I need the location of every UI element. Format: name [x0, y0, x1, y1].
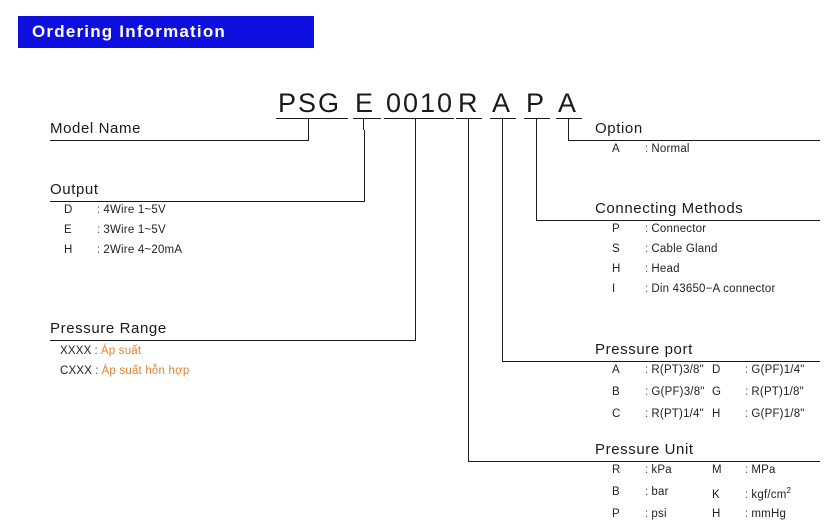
connecting-method-option-i: I:Din 43650−A connector	[612, 283, 776, 295]
option-separator: :	[745, 408, 748, 420]
model-code-pressure-port: A	[492, 88, 512, 119]
model-code-connecting-method: P	[526, 88, 546, 119]
option-separator: :	[94, 345, 97, 357]
connector-line	[456, 118, 482, 119]
pressure-unit-option-r: R:kPa	[612, 464, 672, 476]
connector-line	[536, 130, 537, 221]
option-value: G(PF)1/4"	[751, 364, 804, 376]
option-separator: :	[745, 364, 748, 376]
pressure-unit-option-k: K:kgf/cm2	[712, 486, 791, 501]
connector-line	[524, 118, 550, 119]
connector-line	[50, 201, 365, 202]
option-value: Cable Gland	[651, 243, 717, 255]
option-value: R(PT)3/8"	[651, 364, 704, 376]
option-separator: :	[95, 365, 98, 377]
section-title-pressure-port: Pressure port	[595, 341, 693, 358]
option-key: R	[612, 464, 642, 476]
connector-line	[364, 130, 365, 202]
pressure-port-option-b: B:G(PF)3/8"	[612, 386, 705, 398]
option-separator: :	[645, 464, 648, 476]
pressure-port-option-d: D:G(PF)1/4"	[712, 364, 805, 376]
option-value: bar	[651, 486, 668, 498]
option-key: D	[64, 204, 94, 216]
output-option-d: D:4Wire 1~5V	[64, 204, 166, 216]
option-value: mmHg	[751, 508, 786, 520]
option-separator: :	[745, 508, 748, 520]
connector-line	[536, 118, 537, 130]
ordering-information-diagram: Ordering Information PSGE0010RAPA Model …	[0, 0, 826, 528]
connector-line	[568, 140, 820, 141]
pressure-range-option-cxxx: CXXX:Áp suất hỗn hợp	[60, 365, 189, 377]
option-key: M	[712, 464, 742, 476]
option-value: R(PT)1/4"	[651, 408, 704, 420]
connector-line	[468, 130, 469, 462]
connector-line	[502, 361, 820, 362]
option-key: K	[712, 489, 742, 501]
model-code-pressure-unit: R	[458, 88, 480, 119]
option-separator: :	[745, 386, 748, 398]
option-separator: :	[645, 386, 648, 398]
connector-line	[50, 340, 416, 341]
option-separator: :	[645, 508, 648, 520]
connecting-method-option-p: P:Connector	[612, 223, 706, 235]
option-value: Head	[651, 263, 679, 275]
option-value: 4Wire 1~5V	[103, 204, 165, 216]
pressure-port-option-a: A:R(PT)3/8"	[612, 364, 704, 376]
option-key: B	[612, 386, 642, 398]
connector-line	[502, 130, 503, 362]
section-title-connecting-methods: Connecting Methods	[595, 200, 743, 217]
output-option-e: E:3Wire 1~5V	[64, 224, 166, 236]
option-key: H	[612, 263, 642, 275]
option-key: A	[612, 143, 642, 155]
connector-line	[353, 118, 381, 119]
option-separator: :	[97, 204, 100, 216]
option-separator: :	[97, 244, 100, 256]
option-value: G(PF)3/8"	[651, 386, 704, 398]
pressure-unit-option-h: H:mmHg	[712, 508, 786, 520]
connecting-method-option-h: H:Head	[612, 263, 680, 275]
model-code-pressure-range: 0010	[386, 88, 454, 119]
option-separator: :	[645, 408, 648, 420]
option-value: 2Wire 4~20mA	[103, 244, 182, 256]
option-separator: :	[745, 464, 748, 476]
connector-line	[50, 140, 308, 141]
connector-line	[536, 220, 820, 221]
option-key: A	[612, 364, 642, 376]
section-title-output: Output	[50, 181, 99, 198]
connector-line	[415, 130, 416, 341]
connector-line	[308, 130, 309, 141]
connector-line	[502, 118, 503, 130]
pressure-port-option-g: G:R(PT)1/8"	[712, 386, 804, 398]
output-option-h: H:2Wire 4~20mA	[64, 244, 182, 256]
option-separator: :	[645, 243, 648, 255]
connector-line	[468, 118, 469, 130]
option-value: Áp suất hỗn hợp	[102, 365, 190, 377]
connector-line	[415, 118, 416, 130]
option-value: G(PF)1/8"	[751, 408, 804, 420]
connector-line	[556, 118, 582, 119]
connecting-method-option-s: S:Cable Gland	[612, 243, 718, 255]
pressure-port-option-c: C:R(PT)1/4"	[612, 408, 704, 420]
superscript: 2	[786, 486, 791, 495]
page-title: Ordering Information	[32, 22, 226, 42]
pressure-range-option-xxxx: XXXX:Áp suất	[60, 345, 141, 357]
section-title-pressure-range: Pressure Range	[50, 320, 167, 337]
connector-line	[468, 461, 820, 462]
pressure-port-option-h: H:G(PF)1/8"	[712, 408, 805, 420]
option-option-a: A:Normal	[612, 143, 690, 155]
option-key: G	[712, 386, 742, 398]
option-separator: :	[645, 263, 648, 275]
option-separator: :	[645, 283, 648, 295]
option-value: 3Wire 1~5V	[103, 224, 165, 236]
option-key: H	[64, 244, 94, 256]
connector-line	[276, 118, 348, 119]
option-separator: :	[645, 143, 648, 155]
pressure-unit-option-p: P:psi	[612, 508, 667, 520]
section-title-option: Option	[595, 120, 643, 137]
option-separator: :	[97, 224, 100, 236]
option-key: P	[612, 508, 642, 520]
model-code-model-name: PSG	[278, 88, 341, 119]
option-key: H	[712, 508, 742, 520]
option-key: D	[712, 364, 742, 376]
model-code-option: A	[558, 88, 578, 119]
option-value: Din 43650−A connector	[651, 283, 775, 295]
option-separator: :	[745, 489, 748, 501]
option-value: MPa	[751, 464, 775, 476]
connector-line	[363, 118, 364, 130]
option-value: kgf/cm2	[751, 489, 791, 501]
option-separator: :	[645, 486, 648, 498]
connector-line	[308, 118, 309, 130]
option-key: H	[712, 408, 742, 420]
option-key: P	[612, 223, 642, 235]
section-title-pressure-unit: Pressure Unit	[595, 441, 694, 458]
option-value: Normal	[651, 143, 689, 155]
option-value: Áp suất	[101, 345, 141, 357]
option-key: XXXX	[60, 345, 91, 357]
connector-line	[568, 118, 569, 130]
option-key: CXXX	[60, 365, 92, 377]
option-value: kPa	[651, 464, 671, 476]
connector-line	[490, 118, 516, 119]
section-title-model-name: Model Name	[50, 120, 141, 137]
option-key: I	[612, 283, 642, 295]
option-value: Connector	[651, 223, 706, 235]
option-separator: :	[645, 223, 648, 235]
option-value: R(PT)1/8"	[751, 386, 804, 398]
option-key: B	[612, 486, 642, 498]
option-key: C	[612, 408, 642, 420]
model-code-output: E	[355, 88, 375, 119]
option-value: psi	[651, 508, 666, 520]
option-separator: :	[645, 364, 648, 376]
option-key: E	[64, 224, 94, 236]
pressure-unit-option-m: M:MPa	[712, 464, 776, 476]
connector-line	[384, 118, 454, 119]
pressure-unit-option-b: B:bar	[612, 486, 669, 498]
option-key: S	[612, 243, 642, 255]
